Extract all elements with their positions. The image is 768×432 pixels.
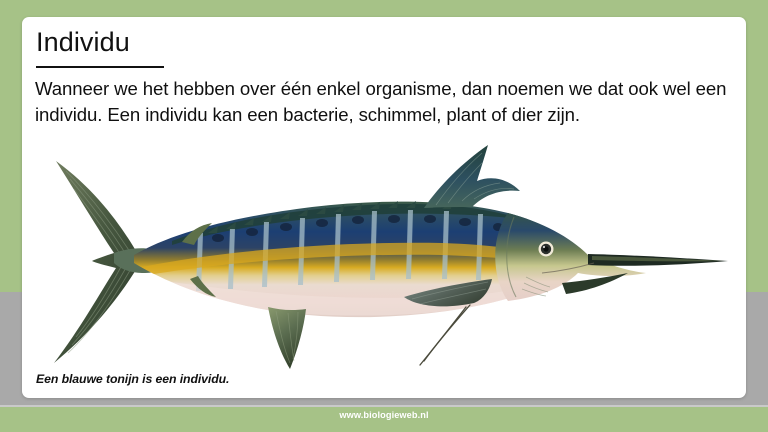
pelvic-filaments	[420, 305, 470, 365]
body-paragraph: Wanneer we het hebben over één enkel org…	[35, 76, 735, 129]
footer-url: www.biologieweb.nl	[0, 410, 768, 420]
anal-fin	[268, 307, 306, 369]
blue-marlin-fish-illustration	[22, 137, 746, 372]
first-dorsal-fin	[424, 145, 520, 208]
figure-caption: Een blauwe tonijn is een individu.	[36, 372, 229, 386]
eye-glint	[543, 246, 545, 248]
page-title-underline	[36, 66, 164, 68]
content-card: Individu Wanneer we het hebben over één …	[22, 17, 746, 398]
slide: Individu Wanneer we het hebben over één …	[0, 0, 768, 432]
page-title: Individu	[36, 28, 130, 58]
